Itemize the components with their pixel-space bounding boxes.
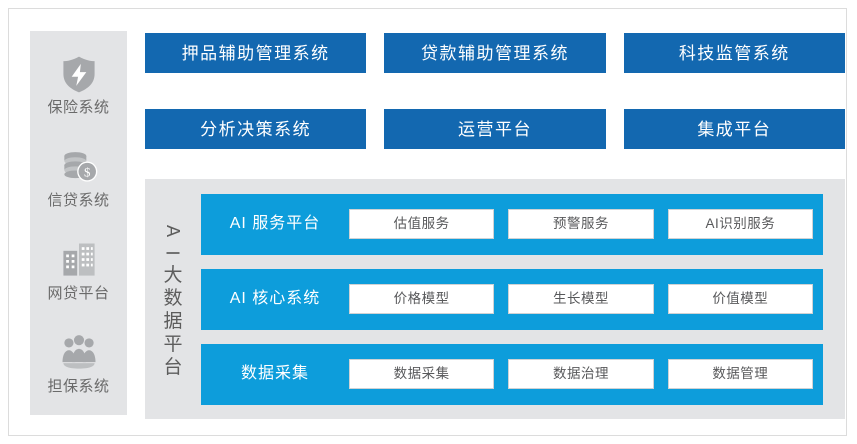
architecture-diagram-root: 保险系统 $ 信 (0, 0, 857, 444)
system-box-tech-supervision[interactable]: 科技监管系统 (624, 33, 845, 73)
layer-chip-value-model[interactable]: 价值模型 (668, 284, 813, 314)
layer-chip-ai-recognition-service[interactable]: AI识别服务 (668, 209, 813, 239)
buildings-icon (57, 238, 101, 282)
sidebar-item-guarantee[interactable]: 担保系统 (30, 317, 127, 409)
layer-chip-data-collection[interactable]: 数据采集 (349, 359, 494, 389)
people-group-icon (57, 331, 101, 375)
platform-layer-data-collection: 数据采集 数据采集 数据治理 数据管理 (201, 344, 823, 405)
layer-items: 价格模型 生长模型 价值模型 (349, 284, 813, 314)
sidebar: 保险系统 $ 信 (30, 31, 127, 415)
top-systems-row-1: 押品辅助管理系统 贷款辅助管理系统 科技监管系统 (145, 33, 845, 73)
layer-chip-growth-model[interactable]: 生长模型 (508, 284, 653, 314)
layer-chip-alert-service[interactable]: 预警服务 (508, 209, 653, 239)
layer-title: AI 核心系统 (201, 291, 349, 307)
system-box-operations-platform[interactable]: 运营平台 (384, 109, 605, 149)
sidebar-item-label: 保险系统 (47, 100, 109, 115)
vertical-label-char: 大 (163, 266, 182, 285)
layer-chip-price-model[interactable]: 价格模型 (349, 284, 494, 314)
layer-chip-data-management[interactable]: 数据管理 (668, 359, 813, 389)
layer-items: 估值服务 预警服务 AI识别服务 (349, 209, 813, 239)
system-box-analysis-decision[interactable]: 分析决策系统 (145, 109, 366, 149)
coins-dollar-icon: $ (57, 145, 101, 189)
layer-chip-data-governance[interactable]: 数据治理 (508, 359, 653, 389)
sidebar-item-label: 担保系统 (47, 379, 109, 394)
platform-layer-ai-core: AI 核心系统 价格模型 生长模型 价值模型 (201, 269, 823, 330)
top-systems-row-2: 分析决策系统 运营平台 集成平台 (145, 109, 845, 149)
sidebar-item-label: 网贷平台 (47, 286, 109, 301)
layer-chip-valuation-service[interactable]: 估值服务 (349, 209, 494, 239)
vertical-label-char: 据 (163, 312, 182, 331)
layer-title: AI 服务平台 (201, 216, 349, 232)
sidebar-item-online-loan[interactable]: 网贷平台 (30, 224, 127, 316)
vertical-label-char: 数 (163, 289, 182, 308)
svg-text:$: $ (84, 166, 91, 180)
vertical-label-char: A (164, 224, 182, 236)
vertical-label-char: 平 (163, 335, 182, 354)
ai-bigdata-platform-panel: A I 大 数 据 平 台 AI 服务平台 估值服务 预警服务 AI识别服务 (145, 179, 845, 419)
layer-title: 数据采集 (201, 366, 349, 382)
system-box-loan-management[interactable]: 贷款辅助管理系统 (384, 33, 605, 73)
sidebar-item-insurance[interactable]: 保险系统 (30, 38, 127, 130)
vertical-label-char: 台 (163, 358, 182, 377)
system-box-collateral-management[interactable]: 押品辅助管理系统 (145, 33, 366, 73)
sidebar-item-label: 信贷系统 (47, 193, 109, 208)
system-box-integration-platform[interactable]: 集成平台 (624, 109, 845, 149)
sidebar-item-credit[interactable]: $ 信贷系统 (30, 131, 127, 223)
platform-layers: AI 服务平台 估值服务 预警服务 AI识别服务 AI 核心系统 价格模型 生长… (201, 179, 845, 419)
layer-items: 数据采集 数据治理 数据管理 (349, 359, 813, 389)
platform-vertical-label: A I 大 数 据 平 台 (145, 179, 201, 419)
vertical-label-char: I (164, 250, 182, 255)
shield-bolt-icon (57, 52, 101, 96)
platform-layer-ai-service: AI 服务平台 估值服务 预警服务 AI识别服务 (201, 194, 823, 255)
diagram-card: 保险系统 $ 信 (8, 8, 847, 436)
